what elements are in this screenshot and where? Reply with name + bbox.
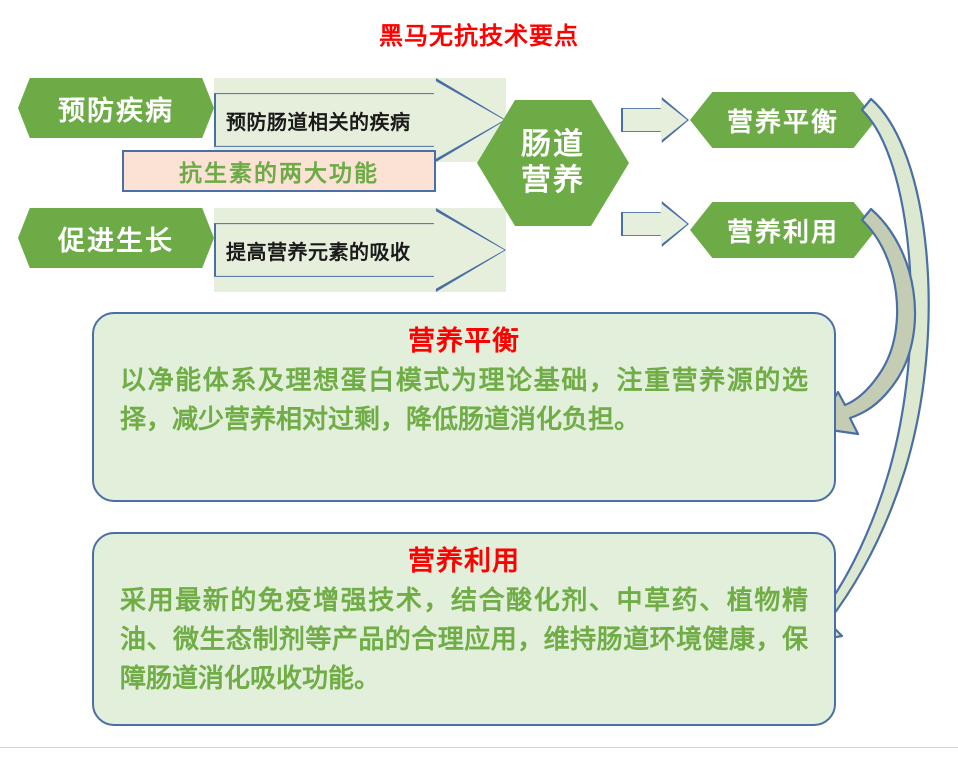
chevron-prevent-disease[interactable]: 预防疾病 [18,78,214,138]
arrow-box-prevent-disease-label: 预防肠道相关的疾病 [214,106,411,135]
output-hexagon-balance-label: 营养平衡 [727,102,839,139]
output-hexagon-balance[interactable]: 营养平衡 [690,92,876,148]
chevron-promote-growth[interactable]: 促进生长 [18,208,214,268]
antibiotic-functions-label: 抗生素的两大功能 [179,154,379,188]
slide-canvas: 黑马无抗技术要点 预防疾病 促进生长 预防肠道相关的疾病 提高营养元素的吸收 抗… [0,0,958,757]
block-arrow-to-balance-icon [621,96,689,144]
antibiotic-functions-highlight[interactable]: 抗生素的两大功能 [122,150,436,192]
arrow-box-nutrient-absorption-label: 提高营养元素的吸收 [214,236,411,265]
panel-nutrition-utilization[interactable]: 营养利用 采用最新的免疫增强技术，结合酸化剂、中草药、植物精油、微生态制剂等产品… [92,532,836,726]
panel-nutrition-balance-heading: 营养平衡 [120,324,808,360]
center-hexagon-line1: 肠道 [521,127,585,163]
arrow-box-nutrient-absorption[interactable]: 提高营养元素的吸收 [214,208,506,292]
panel-nutrition-utilization-body: 采用最新的免疫增强技术，结合酸化剂、中草药、植物精油、微生态制剂等产品的合理应用… [120,582,808,699]
output-hexagon-utilization[interactable]: 营养利用 [690,202,876,258]
center-hexagon-line2: 营养 [521,163,585,199]
output-hexagon-utilization-label: 营养利用 [727,212,839,249]
page-title: 黑马无抗技术要点 [0,20,958,52]
block-arrow-to-utilization-icon [621,200,689,248]
block-arrow-fill-icon [623,98,687,142]
bottom-divider [0,747,958,748]
panel-nutrition-utilization-heading: 营养利用 [120,544,808,580]
block-arrow-fill-icon [623,202,687,246]
panel-nutrition-balance[interactable]: 营养平衡 以净能体系及理想蛋白模式为理论基础，注重营养源的选择，减少营养相对过剩… [92,312,836,502]
chevron-prevent-disease-label: 预防疾病 [58,89,174,128]
panel-nutrition-balance-body: 以净能体系及理想蛋白模式为理论基础，注重营养源的选择，减少营养相对过剩，降低肠道… [120,362,808,440]
chevron-promote-growth-label: 促进生长 [58,219,174,258]
